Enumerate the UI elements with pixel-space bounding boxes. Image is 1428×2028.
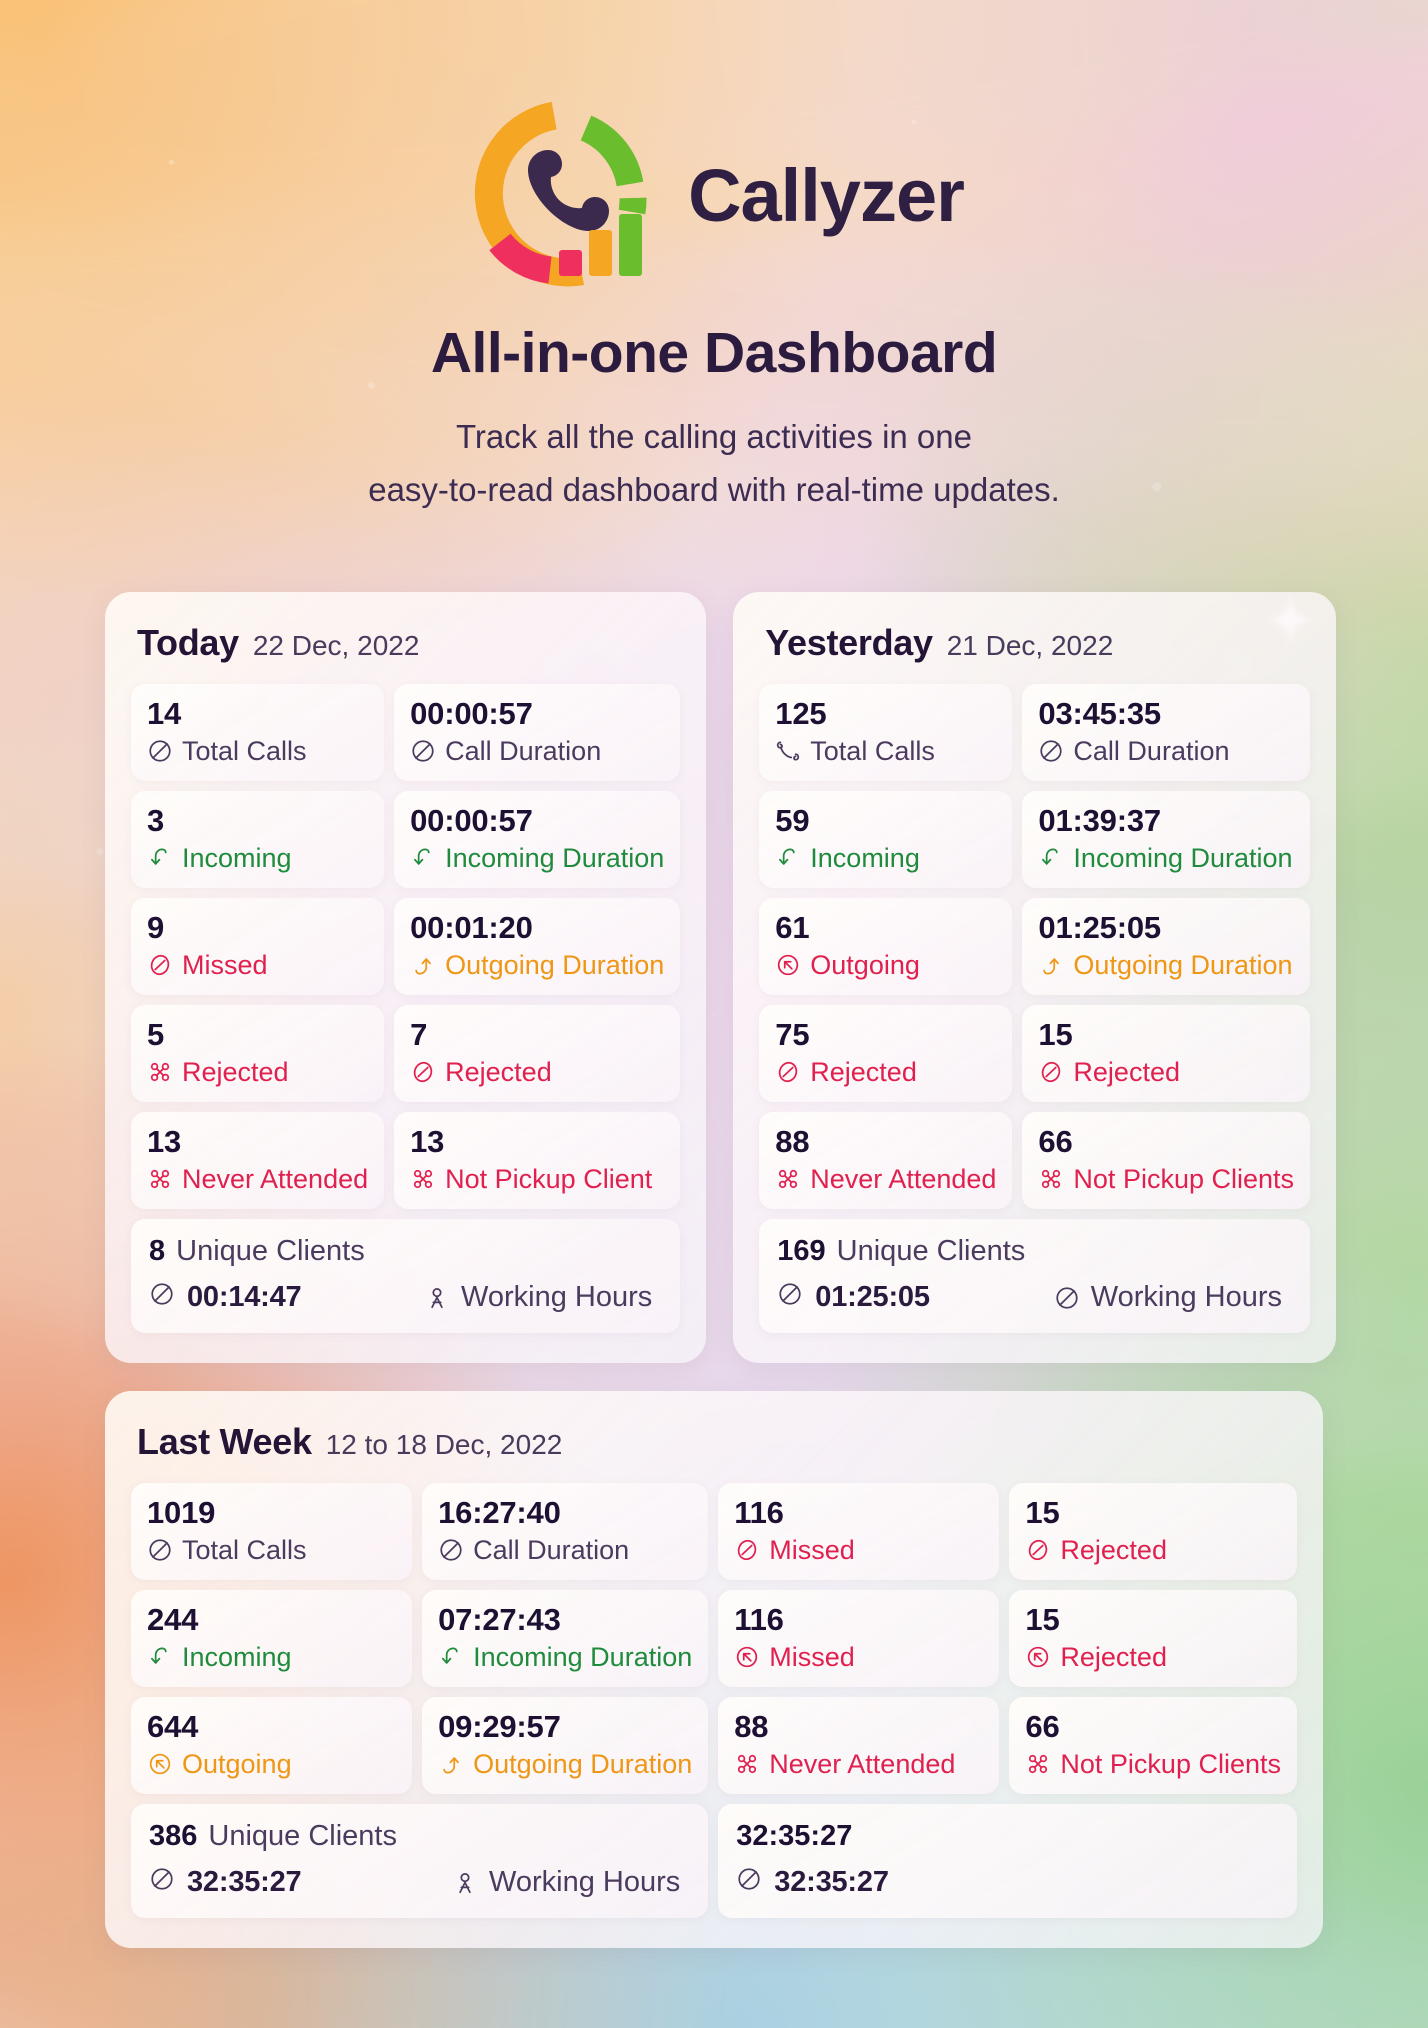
summary-working-hours: Working Hours xyxy=(452,1866,690,1899)
clock-icon xyxy=(149,1281,175,1307)
stat-tile-label: Rejected xyxy=(775,1059,996,1086)
person-icon xyxy=(452,1870,478,1896)
stat-tile-value: 9 xyxy=(147,912,368,943)
stat-tile[interactable]: 61 Outgoing xyxy=(759,898,1012,995)
stat-tile-value: 75 xyxy=(775,1019,996,1050)
brand-logo: Callyzer xyxy=(105,0,1323,290)
stat-tile[interactable]: 75 Rejected xyxy=(759,1005,1012,1102)
stat-tile-value: 644 xyxy=(147,1711,396,1742)
summary-working-hours-label: Working Hours xyxy=(461,1281,652,1314)
summary-clients: 386 Unique Clients xyxy=(149,1820,690,1853)
stat-tile-label-text: Outgoing Duration xyxy=(473,1751,692,1778)
stat-tile-label: Rejected xyxy=(1025,1537,1281,1564)
summary-duration-row: 32:35:27 Working Hours xyxy=(149,1866,690,1900)
stat-tile-label-text: Total Calls xyxy=(182,1537,307,1564)
card-last-week-title: Last Week xyxy=(137,1421,312,1463)
card-last-week-date: 12 to 18 Dec, 2022 xyxy=(326,1429,563,1461)
summary-duration-row: 00:14:47 Working Hours xyxy=(149,1281,662,1315)
clock-icon xyxy=(736,1866,762,1892)
stat-tile-label: Outgoing Duration xyxy=(1038,952,1294,979)
stat-tile-value: 66 xyxy=(1038,1126,1294,1157)
card-yesterday-date: 21 Dec, 2022 xyxy=(947,630,1114,662)
stat-tile-label-text: Incoming Duration xyxy=(473,1644,692,1671)
stat-tile-label: Not Pickup Clients xyxy=(1038,1166,1294,1193)
stat-tile-value: 7 xyxy=(410,1019,664,1050)
stat-tile-value: 01:25:05 xyxy=(1038,912,1294,943)
outgoing-arrow-icon xyxy=(147,1751,173,1777)
clock-icon xyxy=(149,1866,175,1892)
stat-tile[interactable]: 1019 Total Calls xyxy=(131,1483,412,1580)
stat-tile-value: 244 xyxy=(147,1604,396,1635)
summary-duration-value: 32:35:27 xyxy=(187,1866,302,1899)
stat-tile-label-text: Incoming xyxy=(182,1644,292,1671)
stat-tile-label-text: Rejected xyxy=(810,1059,917,1086)
stat-tile[interactable]: 244 Incoming xyxy=(131,1590,412,1687)
stat-tile-value: 00:01:20 xyxy=(410,912,664,943)
incoming-call-icon xyxy=(410,845,436,871)
summary-clients: 169 Unique Clients xyxy=(777,1235,1292,1268)
stat-tile[interactable]: 116 Missed xyxy=(718,1590,999,1687)
page-title: All-in-one Dashboard xyxy=(105,320,1323,386)
blocked-icon xyxy=(1025,1537,1051,1563)
stat-tile-label-text: Call Duration xyxy=(473,1537,629,1564)
stat-tile-value: 59 xyxy=(775,805,996,836)
outgoing-arrow-icon xyxy=(775,952,801,978)
card-last-week: Last Week 12 to 18 Dec, 2022 1019 Total … xyxy=(105,1391,1323,1948)
stat-tile-label-text: Missed xyxy=(182,952,268,979)
stat-tile-label-text: Total Calls xyxy=(810,738,935,765)
stat-tile-label: Incoming Duration xyxy=(438,1644,692,1671)
clock-icon xyxy=(777,1281,803,1307)
incoming-call-icon xyxy=(147,1644,173,1670)
stat-tile[interactable]: 116 Missed xyxy=(718,1483,999,1580)
card-today: Today 22 Dec, 2022 14 Total Calls 00:00:… xyxy=(105,592,706,1363)
stat-tile-label: Missed xyxy=(734,1644,983,1671)
card-today-title: Today xyxy=(137,622,239,664)
stat-tile-value: 15 xyxy=(1038,1019,1294,1050)
stat-tile-label-text: Not Pickup Client xyxy=(445,1166,652,1193)
clock-icon xyxy=(1054,1285,1080,1311)
scissors-icon xyxy=(1038,1166,1064,1192)
stat-tile-label: Total Calls xyxy=(147,1537,396,1564)
stat-tile[interactable]: 3 Incoming xyxy=(131,791,384,888)
stat-tile-label-text: Not Pickup Clients xyxy=(1073,1166,1294,1193)
summary-duration-value: 01:25:05 xyxy=(815,1281,930,1314)
stat-tile[interactable]: 00:01:20 Outgoing Duration xyxy=(394,898,680,995)
stat-tile-label: Incoming Duration xyxy=(410,845,664,872)
stat-tile-label: Never Attended xyxy=(147,1166,368,1193)
stat-tile[interactable]: 125 Total Calls xyxy=(759,684,1012,781)
incoming-call-icon xyxy=(147,845,173,871)
stat-tile-label-text: Total Calls xyxy=(182,738,307,765)
scissors-icon xyxy=(410,1166,436,1192)
stat-tile-value: 3 xyxy=(147,805,368,836)
stat-tile[interactable]: 16:27:40 Call Duration xyxy=(422,1483,708,1580)
page-subtitle-line2: easy-to-read dashboard with real-time up… xyxy=(105,463,1323,516)
stat-tile-value: 1019 xyxy=(147,1497,396,1528)
stat-tile-label-text: Rejected xyxy=(1060,1644,1167,1671)
stat-tile-value: 61 xyxy=(775,912,996,943)
card-last-week-grid: 1019 Total Calls 16:27:40 Call Duration … xyxy=(131,1483,1297,1918)
outgoing-arrow-icon xyxy=(734,1644,760,1670)
outgoing-call-icon xyxy=(438,1751,464,1777)
clock-icon xyxy=(147,738,173,764)
summary-clients-label: Unique Clients xyxy=(176,1235,365,1268)
stat-tile-value: 13 xyxy=(147,1126,368,1157)
stat-tile-label: Incoming xyxy=(775,845,996,872)
stat-tile-label-text: Incoming xyxy=(810,845,920,872)
summary-secondary-duration-value: 32:35:27 xyxy=(774,1866,889,1899)
stat-tile[interactable]: 13 Not Pickup Client xyxy=(394,1112,680,1209)
outgoing-arrow-icon xyxy=(1025,1644,1051,1670)
stat-tile-label-text: Never Attended xyxy=(182,1166,368,1193)
stat-tile-value: 03:45:35 xyxy=(1038,698,1294,729)
stat-tile-label-text: Outgoing Duration xyxy=(445,952,664,979)
incoming-call-icon xyxy=(438,1644,464,1670)
summary-duration-icon-slot xyxy=(777,1281,803,1315)
page-subtitle-line1: Track all the calling activities in one xyxy=(105,410,1323,463)
stat-tile[interactable]: 14 Total Calls xyxy=(131,684,384,781)
stat-tile[interactable]: 644 Outgoing xyxy=(131,1697,412,1794)
summary-tile[interactable]: 169 Unique Clients 01:25:05 Working Hour… xyxy=(759,1219,1310,1333)
stat-tile-label: Call Duration xyxy=(1038,738,1294,765)
stat-tile-label-text: Incoming Duration xyxy=(445,845,664,872)
card-yesterday-title: Yesterday xyxy=(765,622,932,664)
stat-tile-label-text: Missed xyxy=(769,1644,855,1671)
stat-cards-row: Today 22 Dec, 2022 14 Total Calls 00:00:… xyxy=(105,592,1323,1363)
stat-tile-label: Outgoing Duration xyxy=(438,1751,692,1778)
summary-secondary-value: 32:35:27 xyxy=(736,1820,852,1853)
stat-tile-value: 15 xyxy=(1025,1497,1281,1528)
summary-working-hours-label: Working Hours xyxy=(489,1866,680,1899)
summary-clients-label: Unique Clients xyxy=(837,1235,1026,1268)
summary-tile-secondary[interactable]: 32:35:27 32:35:27 xyxy=(718,1804,1297,1918)
scissors-icon xyxy=(775,1166,801,1192)
stat-tile-label-text: Outgoing Duration xyxy=(1073,952,1292,979)
stat-tile-label-text: Rejected xyxy=(1073,1059,1180,1086)
stat-tile[interactable]: 07:27:43 Incoming Duration xyxy=(422,1590,708,1687)
card-yesterday-grid: 125 Total Calls 03:45:35 Call Duration 5… xyxy=(759,684,1310,1333)
person-icon xyxy=(424,1285,450,1311)
stat-tile[interactable]: 09:29:57 Outgoing Duration xyxy=(422,1697,708,1794)
stat-tile[interactable]: 59 Incoming xyxy=(759,791,1012,888)
stat-tile-value: 88 xyxy=(775,1126,996,1157)
stat-tile-label-text: Outgoing xyxy=(810,952,920,979)
incoming-call-icon xyxy=(775,845,801,871)
summary-clients-count: 169 xyxy=(777,1235,825,1268)
stat-tile-value: 09:29:57 xyxy=(438,1711,692,1742)
stat-tile[interactable]: 5 Rejected xyxy=(131,1005,384,1102)
stat-tile-label: Incoming Duration xyxy=(1038,845,1294,872)
clock-icon xyxy=(147,1537,173,1563)
stat-tile[interactable]: 13 Never Attended xyxy=(131,1112,384,1209)
summary-clients: 8 Unique Clients xyxy=(149,1235,662,1268)
stat-tile-value: 15 xyxy=(1025,1604,1281,1635)
stat-tile-value: 88 xyxy=(734,1711,983,1742)
stat-tile-value: 16:27:40 xyxy=(438,1497,692,1528)
stat-tile-value: 00:00:57 xyxy=(410,698,664,729)
summary-secondary-top: 32:35:27 xyxy=(736,1820,1279,1853)
stat-tile-value: 07:27:43 xyxy=(438,1604,692,1635)
summary-working-hours: Working Hours xyxy=(424,1281,662,1314)
stat-tile-value: 66 xyxy=(1025,1711,1281,1742)
blocked-icon xyxy=(775,1059,801,1085)
stat-tile-value: 01:39:37 xyxy=(1038,805,1294,836)
summary-duration-icon-slot xyxy=(149,1866,175,1900)
stat-tile-label-text: Incoming Duration xyxy=(1073,845,1292,872)
stat-tile-value: 116 xyxy=(734,1497,983,1528)
stat-tile-label: Rejected xyxy=(410,1059,664,1086)
blocked-icon xyxy=(147,952,173,978)
scissors-icon xyxy=(1025,1751,1051,1777)
stat-tile[interactable]: 00:00:57 Call Duration xyxy=(394,684,680,781)
stat-tile[interactable]: 15 Rejected xyxy=(1022,1005,1310,1102)
stat-tile-label-text: Incoming xyxy=(182,845,292,872)
card-last-week-header: Last Week 12 to 18 Dec, 2022 xyxy=(131,1417,1297,1483)
stat-tile[interactable]: 01:25:05 Outgoing Duration xyxy=(1022,898,1310,995)
summary-clients-count: 8 xyxy=(149,1235,165,1268)
stat-tile-label: Call Duration xyxy=(410,738,664,765)
stat-tile[interactable]: 7 Rejected xyxy=(394,1005,680,1102)
summary-tile[interactable]: 8 Unique Clients 00:14:47 Working Hours xyxy=(131,1219,680,1333)
stat-tile-value: 14 xyxy=(147,698,368,729)
card-today-header: Today 22 Dec, 2022 xyxy=(131,618,680,684)
stat-tile[interactable]: 88 Never Attended xyxy=(718,1697,999,1794)
stat-tile[interactable]: 88 Never Attended xyxy=(759,1112,1012,1209)
stat-tile-label: Outgoing xyxy=(147,1751,396,1778)
blocked-icon xyxy=(1038,1059,1064,1085)
summary-working-hours-label: Working Hours xyxy=(1091,1281,1282,1314)
stat-tile-value: 00:00:57 xyxy=(410,805,664,836)
stat-tile[interactable]: 00:00:57 Incoming Duration xyxy=(394,791,680,888)
summary-duration-icon-slot xyxy=(149,1281,175,1315)
stat-tile-label: Not Pickup Clients xyxy=(1025,1751,1281,1778)
stat-tile-label-text: Call Duration xyxy=(445,738,601,765)
clock-icon xyxy=(438,1537,464,1563)
summary-working-hours: Working Hours xyxy=(1054,1281,1292,1314)
stat-tile[interactable]: 9 Missed xyxy=(131,898,384,995)
stat-tile-value: 125 xyxy=(775,698,996,729)
stat-tile-label-text: Rejected xyxy=(1060,1537,1167,1564)
stat-tile-label-text: Call Duration xyxy=(1073,738,1229,765)
stat-tile-label-text: Outgoing xyxy=(182,1751,292,1778)
stat-tile-label-text: Not Pickup Clients xyxy=(1060,1751,1281,1778)
stat-tile-label: Incoming xyxy=(147,845,368,872)
stat-tile-label-text: Never Attended xyxy=(810,1166,996,1193)
stat-tile-label: Rejected xyxy=(1025,1644,1281,1671)
incoming-call-icon xyxy=(1038,845,1064,871)
clock-icon xyxy=(410,738,436,764)
stat-tile[interactable]: 03:45:35 Call Duration xyxy=(1022,684,1310,781)
stat-tile-label: Call Duration xyxy=(438,1537,692,1564)
stat-tile-value: 5 xyxy=(147,1019,368,1050)
summary-duration-row: 01:25:05 Working Hours xyxy=(777,1281,1292,1315)
stat-tile-label: Missed xyxy=(147,952,368,979)
stat-tile-label: Rejected xyxy=(147,1059,368,1086)
summary-tile[interactable]: 386 Unique Clients 32:35:27 Working Hour… xyxy=(131,1804,708,1918)
scissors-icon xyxy=(147,1166,173,1192)
stat-tile-label: Never Attended xyxy=(734,1751,983,1778)
stat-tile[interactable]: 15 Rejected xyxy=(1009,1483,1297,1580)
summary-clients-count: 386 xyxy=(149,1820,197,1853)
callyzer-logo-icon xyxy=(464,100,654,290)
stat-tile-label: Never Attended xyxy=(775,1166,996,1193)
stat-tile-label: Missed xyxy=(734,1537,983,1564)
stat-tile-value: 13 xyxy=(410,1126,664,1157)
card-today-date: 22 Dec, 2022 xyxy=(253,630,420,662)
stat-tile-value: 116 xyxy=(734,1604,983,1635)
stat-tile-label: Outgoing xyxy=(775,952,996,979)
blocked-icon xyxy=(734,1537,760,1563)
stat-tile-label-text: Rejected xyxy=(445,1059,552,1086)
stat-tile-label: Rejected xyxy=(1038,1059,1294,1086)
outgoing-call-icon xyxy=(410,952,436,978)
card-yesterday: Yesterday 21 Dec, 2022 125 Total Calls 0… xyxy=(733,592,1336,1363)
summary-secondary-duration-icon-slot xyxy=(736,1866,762,1900)
outgoing-call-icon xyxy=(1038,952,1064,978)
scissors-icon xyxy=(147,1059,173,1085)
stat-tile[interactable]: 66 Not Pickup Clients xyxy=(1009,1697,1297,1794)
card-today-grid: 14 Total Calls 00:00:57 Call Duration 3 … xyxy=(131,684,680,1333)
card-yesterday-header: Yesterday 21 Dec, 2022 xyxy=(759,618,1310,684)
scissors-icon xyxy=(734,1751,760,1777)
blocked-icon xyxy=(410,1059,436,1085)
brand-name: Callyzer xyxy=(688,153,964,238)
stat-tile[interactable]: 01:39:37 Incoming Duration xyxy=(1022,791,1310,888)
stat-tile-label: Outgoing Duration xyxy=(410,952,664,979)
stat-tile-label-text: Missed xyxy=(769,1537,855,1564)
summary-duration-value: 00:14:47 xyxy=(187,1281,302,1314)
stat-tile-label: Total Calls xyxy=(775,738,996,765)
stat-tile-label: Incoming xyxy=(147,1644,396,1671)
phone-icon xyxy=(775,738,801,764)
summary-clients-label: Unique Clients xyxy=(208,1820,397,1853)
stat-tile-label-text: Rejected xyxy=(182,1059,289,1086)
stat-tile[interactable]: 15 Rejected xyxy=(1009,1590,1297,1687)
stat-tile-label-text: Never Attended xyxy=(769,1751,955,1778)
clock-icon xyxy=(1038,738,1064,764)
page-subtitle: Track all the calling activities in one … xyxy=(105,410,1323,517)
stat-tile-label: Total Calls xyxy=(147,738,368,765)
summary-secondary-duration-row: 32:35:27 xyxy=(736,1866,1279,1900)
stat-tile[interactable]: 66 Not Pickup Clients xyxy=(1022,1112,1310,1209)
stat-tile-label: Not Pickup Client xyxy=(410,1166,664,1193)
